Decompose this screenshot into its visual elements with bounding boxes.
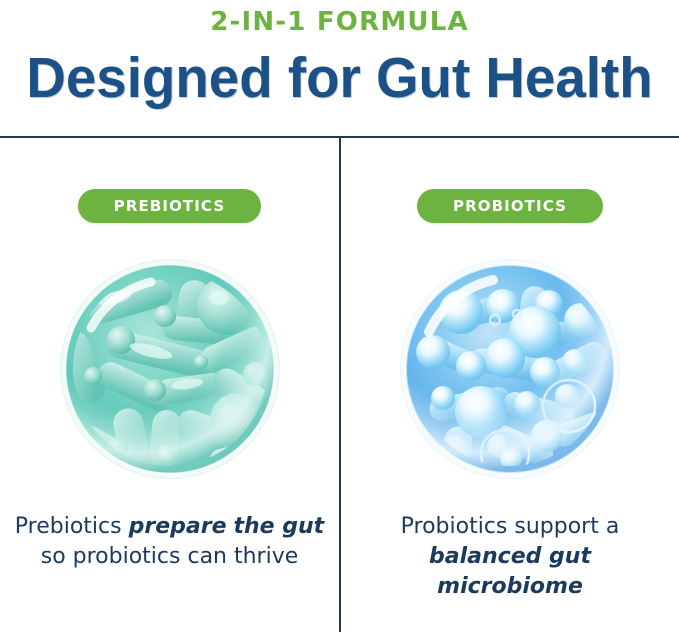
- caption-text-plain-1: Prebiotics: [15, 514, 129, 539]
- caption-text-plain-3: can thrive: [187, 544, 298, 569]
- illustration-container-probiotics: [341, 258, 679, 480]
- prebiotics-sphere-icon: [59, 258, 281, 480]
- badge-probiotics: PROBIOTICS: [417, 189, 603, 223]
- caption-text-emphasis-4: microbiome: [437, 574, 583, 599]
- probiotics-sphere-icon: [399, 258, 621, 480]
- column-probiotics: PROBIOTICS: [341, 137, 679, 638]
- caption-text-plain-4: Probiotics support: [401, 514, 599, 539]
- caption-prebiotics: Prebiotics prepare the gut so probiotics…: [0, 512, 339, 572]
- gut-health-infographic: 2-IN-1 FORMULA Designed for Gut Health P…: [0, 0, 679, 638]
- column-prebiotics: PREBIOTICS: [0, 137, 339, 638]
- caption-text-emphasis-1: prepare: [129, 514, 227, 539]
- page-title: Designed for Gut Health: [14, 43, 666, 113]
- caption-text-emphasis-3: balanced gut: [429, 544, 591, 569]
- pill-container-prebiotics: PREBIOTICS: [0, 189, 339, 223]
- pill-container-probiotics: PROBIOTICS: [341, 189, 679, 223]
- caption-text-plain-2: so probiotics: [41, 544, 181, 569]
- badge-prebiotics: PREBIOTICS: [78, 189, 261, 223]
- caption-text-plain-5: a: [606, 514, 619, 539]
- illustration-container-prebiotics: [0, 258, 339, 480]
- caption-text-emphasis-2: the gut: [234, 514, 325, 539]
- eyebrow-text: 2-IN-1 FORMULA: [0, 6, 679, 38]
- caption-probiotics: Probiotics support a balanced gut microb…: [341, 512, 679, 602]
